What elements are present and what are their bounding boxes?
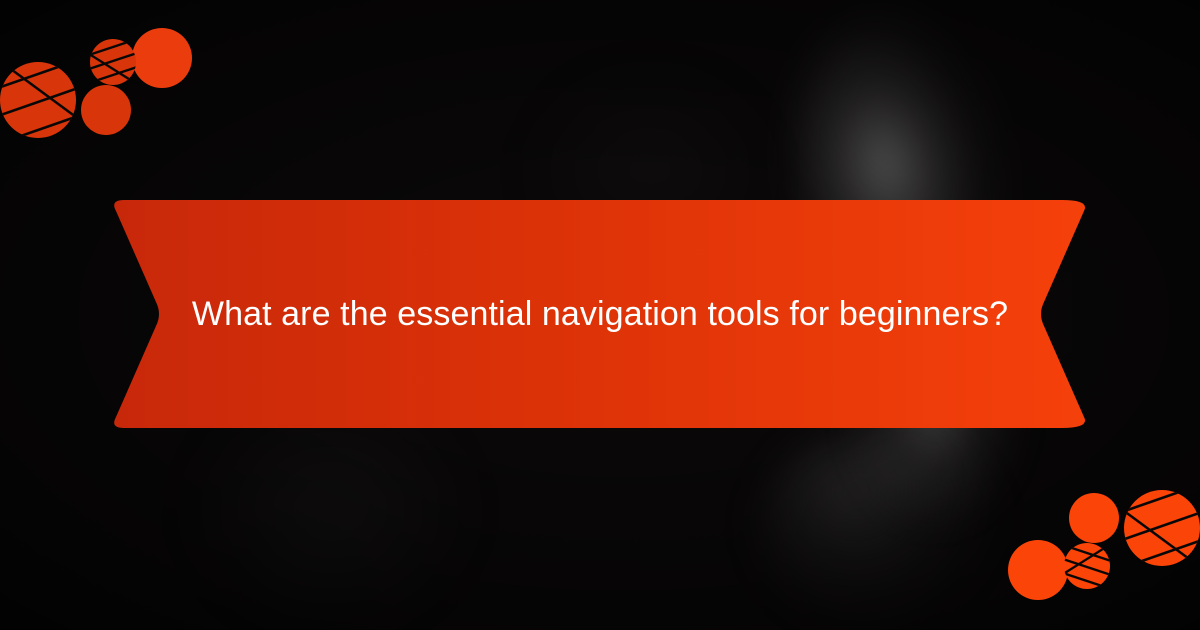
banner-question-text: What are the essential navigation tools … — [158, 194, 1042, 434]
large-plain-circle — [1008, 540, 1068, 600]
medium-plain-circle — [81, 85, 131, 135]
large-striped-circle — [0, 58, 84, 146]
large-striped-circle — [1116, 482, 1200, 570]
decoration-cluster-bottom-right — [990, 452, 1200, 602]
large-plain-circle — [132, 28, 192, 88]
question-label: What are the essential navigation tools … — [192, 288, 1008, 341]
decoration-cluster-top-left — [0, 28, 210, 178]
medium-plain-circle — [1069, 493, 1119, 543]
social-card-canvas: What are the essential navigation tools … — [0, 0, 1200, 630]
